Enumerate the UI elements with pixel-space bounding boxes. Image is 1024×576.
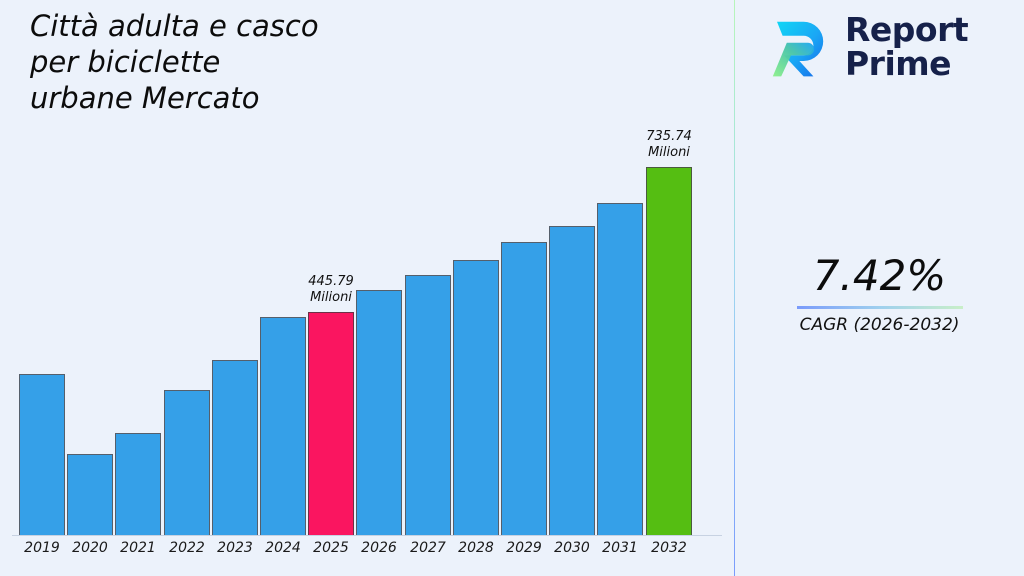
- bar-2020: [67, 454, 113, 535]
- x-tick-2019: 2019: [15, 540, 69, 556]
- cagr-divider-rule: [797, 306, 963, 309]
- bar-2030: [549, 226, 595, 535]
- bar-2022: [164, 390, 210, 535]
- bar-2027: [405, 275, 451, 535]
- bar-2019: [19, 374, 65, 535]
- brand-logo: Report Prime: [763, 12, 968, 82]
- bar-2023: [212, 360, 258, 535]
- cagr-block: 7.42% CAGR (2026-2032): [735, 252, 1024, 335]
- x-tick-2031: 2031: [593, 540, 647, 556]
- bar-2025: [308, 312, 354, 535]
- brand-name: Report Prime: [845, 13, 968, 81]
- bar-2028: [453, 260, 499, 535]
- brand-panel: Report Prime 7.42% CAGR (2026-2032): [735, 0, 1024, 576]
- x-tick-2022: 2022: [160, 540, 214, 556]
- x-tick-2020: 2020: [63, 540, 117, 556]
- x-tick-2026: 2026: [352, 540, 406, 556]
- bar-2021: [115, 433, 161, 535]
- bar-2029: [501, 242, 547, 535]
- x-tick-2021: 2021: [111, 540, 165, 556]
- x-tick-2024: 2024: [256, 540, 310, 556]
- x-tick-2025: 2025: [304, 540, 358, 556]
- cagr-caption: CAGR (2026-2032): [735, 315, 1024, 335]
- bar-2032: [646, 167, 692, 535]
- bar-2024: [260, 317, 306, 535]
- bar-2031: [597, 203, 643, 535]
- bar-value-label-2025: 445.79 Milioni: [286, 274, 376, 306]
- x-tick-2032: 2032: [642, 540, 696, 556]
- cagr-value: 7.42%: [735, 252, 1024, 300]
- chart-panel: Città adulta e casco per biciclette urba…: [0, 0, 735, 576]
- x-tick-2023: 2023: [208, 540, 262, 556]
- bar-2026: [356, 290, 402, 535]
- infographic-root: Città adulta e casco per biciclette urba…: [0, 0, 1024, 576]
- x-tick-2027: 2027: [401, 540, 455, 556]
- bar-value-label-2032: 735.74 Milioni: [624, 129, 714, 161]
- x-tick-2030: 2030: [545, 540, 599, 556]
- brand-name-line2: Prime: [845, 44, 951, 83]
- x-tick-2029: 2029: [497, 540, 551, 556]
- x-axis-line: [12, 535, 722, 536]
- x-tick-2028: 2028: [449, 540, 503, 556]
- report-prime-r-logo-icon: [763, 12, 833, 82]
- bar-chart-plot: 445.79 Milioni735.74 Milioni 20192020202…: [0, 0, 735, 576]
